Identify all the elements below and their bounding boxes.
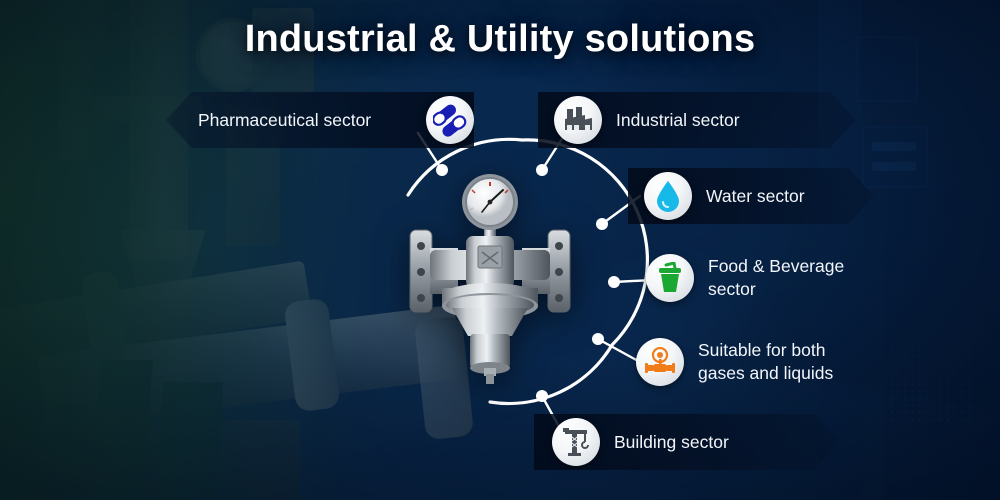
valve-icon <box>636 338 684 386</box>
factory-icon <box>554 96 602 144</box>
sector-item-building[interactable]: Building sector <box>534 414 840 470</box>
sector-label-industrial: Industrial sector <box>602 110 754 131</box>
pressure-gauge <box>462 174 518 242</box>
sector-item-water[interactable]: Water sector <box>628 168 874 224</box>
sector-label-building: Building sector <box>600 432 743 453</box>
sector-label-pharmaceutical: Pharmaceutical sector <box>190 110 426 131</box>
pressure-reducing-valve-image <box>404 168 576 384</box>
sector-label-food-beverage: Food & Beverage sector <box>694 255 858 301</box>
crane-icon <box>552 418 600 466</box>
sector-label-water: Water sector <box>692 186 819 207</box>
sector-item-food-beverage[interactable]: Food & Beverage sector <box>640 250 898 306</box>
beverage-cup-icon <box>646 254 694 302</box>
infographic-banner: Industrial & Utility solutions <box>0 0 1000 500</box>
sector-item-pharmaceutical[interactable]: Pharmaceutical sector <box>166 92 474 148</box>
sector-item-industrial[interactable]: Industrial sector <box>538 92 856 148</box>
sector-label-gases-liquids: Suitable for both gases and liquids <box>684 339 847 385</box>
page-title: Industrial & Utility solutions <box>0 18 1000 61</box>
pills-icon <box>426 96 474 144</box>
water-drop-icon <box>644 172 692 220</box>
sector-item-gases-liquids[interactable]: Suitable for both gases and liquids <box>630 334 898 390</box>
